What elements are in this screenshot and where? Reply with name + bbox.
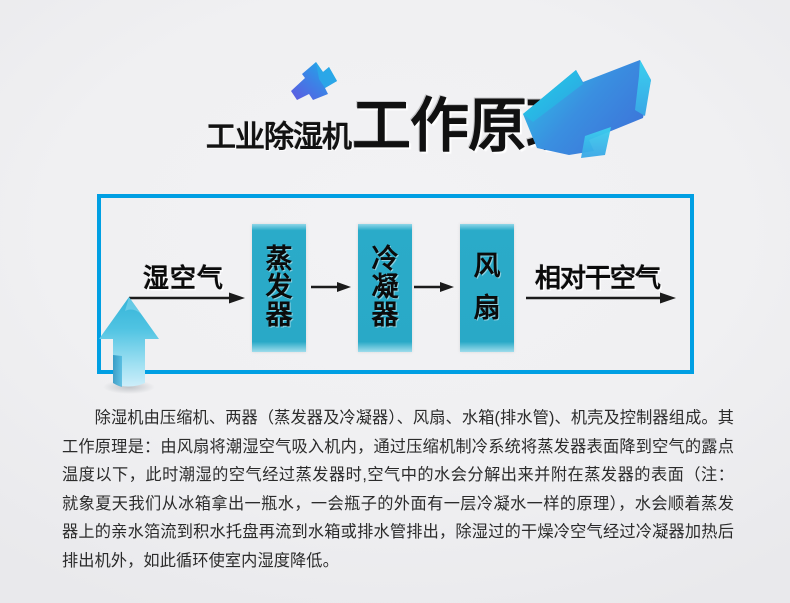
big-left-arrow-icon [493, 52, 653, 164]
arrow-right-icon [526, 290, 676, 306]
small-gradient-arrow-icon [289, 60, 341, 102]
title-row: 工业除湿机 工作原理 [0, 52, 790, 162]
stage-label-condenser: 冷凝器 [370, 246, 400, 329]
stage-label-fan: 风扇 [472, 246, 502, 330]
description-text: 除湿机由压缩机、两器（蒸发器及冷凝器）、风扇、水箱(排水管)、机壳及控制器组成。… [62, 404, 734, 575]
description-paragraph: 除湿机由压缩机、两器（蒸发器及冷凝器）、风扇、水箱(排水管)、机壳及控制器组成。… [62, 404, 734, 575]
stage-box-condenser: 冷凝器 [358, 224, 412, 352]
title-block: 工业除湿机 工作原理 [0, 52, 790, 162]
page-title-prefix: 工业除湿机 [206, 123, 351, 153]
stage-box-fan: 风扇 [460, 224, 514, 352]
arrow-right-icon [414, 280, 454, 294]
process-diagram-inner: 湿空气 蒸发器 冷凝器 风扇 相对干空气 [101, 198, 690, 370]
stage-box-evaporator: 蒸发器 [252, 224, 306, 352]
page-root: 工业除湿机 工作原理 [0, 0, 790, 603]
stage-label-evaporator: 蒸发器 [264, 246, 294, 329]
arrow-up-icon [95, 295, 163, 395]
arrow-right-icon [311, 280, 351, 294]
process-diagram: 湿空气 蒸发器 冷凝器 风扇 相对干空气 [97, 194, 694, 374]
